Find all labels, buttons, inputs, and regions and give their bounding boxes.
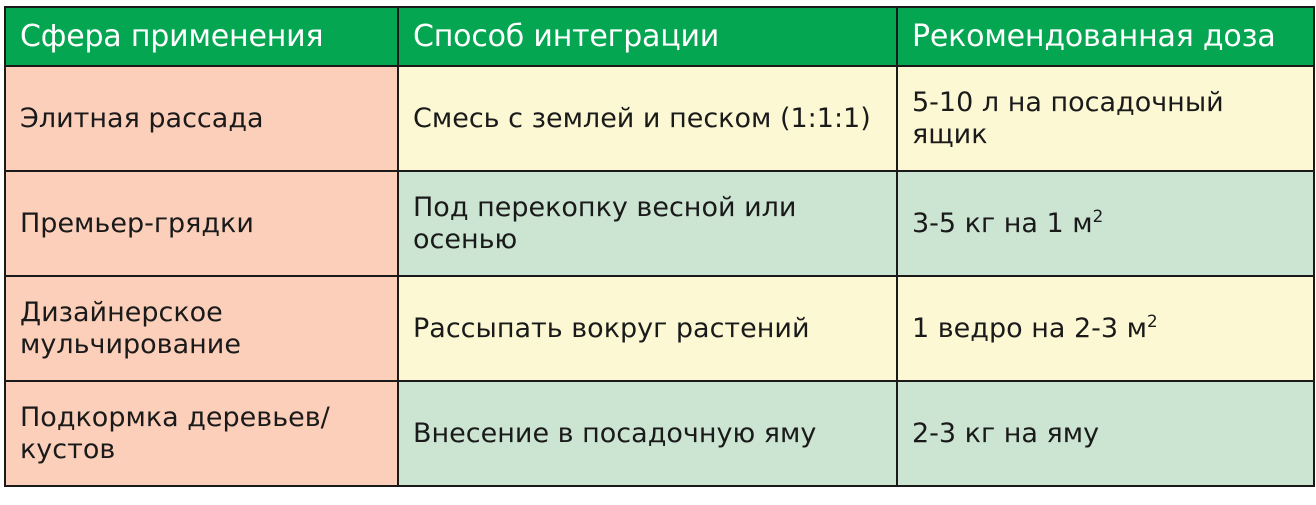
column-header-method: Способ интеграции [398,7,897,66]
cell-method: Внесение в посадочную яму [398,381,897,486]
cell-area: Подкормка деревьев/кустов [5,381,398,486]
cell-area: Дизайнерское мульчирование [5,276,398,381]
cell-dose: 2-3 кг на яму [897,381,1314,486]
column-header-area: Сфера применения [5,7,398,66]
table-row: Элитная рассада Смесь с землей и песком … [5,66,1314,171]
table-row: Дизайнерское мульчирование Рассыпать вок… [5,276,1314,381]
table-header: Сфера применения Способ интеграции Реком… [5,7,1314,66]
cell-method: Смесь с землей и песком (1:1:1) [398,66,897,171]
column-header-dose: Рекомендованная доза [897,7,1314,66]
cell-method: Под перекопку весной или осенью [398,171,897,276]
cell-dose: 5-10 л на посадочный ящик [897,66,1314,171]
cell-dose: 3-5 кг на 1 м2 [897,171,1314,276]
table-container: Сфера применения Способ интеграции Реком… [4,6,1313,485]
cell-method: Рассыпать вокруг растений [398,276,897,381]
cell-area: Элитная рассада [5,66,398,171]
table-body: Элитная рассада Смесь с землей и песком … [5,66,1314,486]
header-row: Сфера применения Способ интеграции Реком… [5,7,1314,66]
cell-area: Премьер-грядки [5,171,398,276]
table-row: Подкормка деревьев/кустов Внесение в пос… [5,381,1314,486]
table-row: Премьер-грядки Под перекопку весной или … [5,171,1314,276]
application-methods-table: Сфера применения Способ интеграции Реком… [4,6,1315,487]
cell-dose: 1 ведро на 2-3 м2 [897,276,1314,381]
